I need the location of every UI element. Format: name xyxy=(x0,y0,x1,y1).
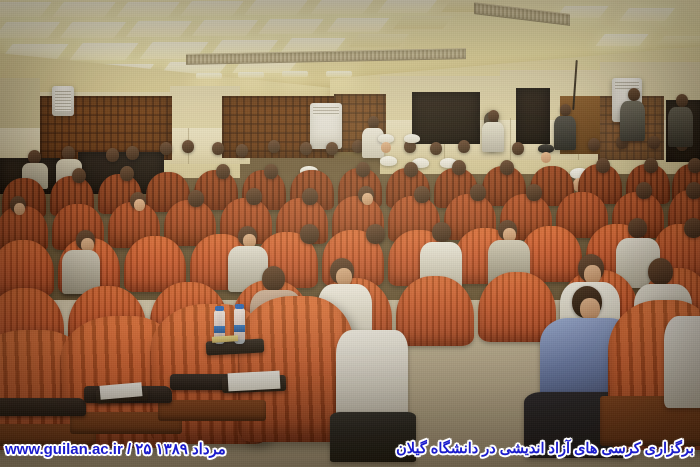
audience-head xyxy=(644,158,658,173)
ceiling-downlight xyxy=(326,71,352,77)
doorway-dark xyxy=(516,88,550,144)
screenshot-photo: www.guilan.ac.ir / ۲۵ مرداد ۱۳۸۹ برگزاری… xyxy=(0,0,700,467)
audience-head xyxy=(366,224,385,244)
seat-armrest xyxy=(0,398,86,416)
audience-head xyxy=(628,218,647,238)
audience-head xyxy=(458,140,470,153)
paper-sheet xyxy=(228,371,281,392)
ceiling-light-panel xyxy=(327,18,390,32)
audience-head xyxy=(512,142,524,155)
audience-head xyxy=(264,164,278,179)
audience-head xyxy=(648,258,673,285)
audience-head xyxy=(430,142,442,155)
cleric-turban-white xyxy=(380,156,397,166)
foreground-person-white-shirt xyxy=(664,316,700,408)
audience-head xyxy=(120,166,134,181)
audience-face xyxy=(362,193,373,205)
audience-head xyxy=(500,160,514,175)
caption-website-and-date: www.guilan.ac.ir / ۲۵ مرداد ۱۳۸۹ xyxy=(5,441,226,458)
standing-person-body xyxy=(482,122,504,152)
audience-head xyxy=(636,182,652,199)
audience-head xyxy=(300,142,312,155)
audience-head xyxy=(452,160,466,175)
standing-person-head xyxy=(560,104,571,116)
audience-head xyxy=(470,184,486,201)
ceiling-downlight xyxy=(196,73,222,79)
audience-head xyxy=(182,140,194,153)
seat-armrest-wood xyxy=(158,400,266,421)
auditorium-seat xyxy=(396,276,474,346)
audience-head xyxy=(432,222,451,242)
audience-head xyxy=(688,158,700,173)
audience-head xyxy=(300,224,319,244)
audience-head xyxy=(268,140,280,153)
standing-person-body xyxy=(668,107,693,147)
air-conditioner-grill xyxy=(313,107,339,116)
audience-head xyxy=(414,186,430,203)
ceiling-downlight xyxy=(282,71,308,77)
audience-head xyxy=(216,164,230,179)
ceiling-light-panel xyxy=(311,0,374,14)
standing-person-body xyxy=(620,101,645,141)
foreground-person-face xyxy=(580,298,600,320)
audience-head xyxy=(326,142,338,155)
audience-head xyxy=(106,148,119,162)
audience-face xyxy=(134,199,145,211)
water-bottle-cap xyxy=(215,306,224,311)
ceiling-downlight xyxy=(238,72,264,78)
audience-head xyxy=(28,150,41,164)
ceiling-light-panel xyxy=(349,34,409,47)
ceiling-light-panel xyxy=(393,16,453,29)
audience-head xyxy=(648,136,660,149)
window-dark xyxy=(412,92,480,144)
audience-head xyxy=(588,138,600,151)
audience-head xyxy=(596,158,610,173)
audience-head xyxy=(212,142,224,155)
ceiling-light-panel xyxy=(377,0,437,13)
standing-person-head xyxy=(628,88,640,101)
standing-person-head xyxy=(676,94,688,107)
cleric-face xyxy=(381,142,391,153)
cleric-face xyxy=(541,152,551,163)
audience-head xyxy=(404,162,418,177)
audience-head xyxy=(126,146,139,160)
audience-head xyxy=(526,184,542,201)
audience-head xyxy=(302,188,318,205)
audience-head xyxy=(686,182,700,199)
standing-person-head xyxy=(488,110,499,122)
water-bottle-cap xyxy=(235,304,244,309)
caption-event-title: برگزاری کرسی های آزاد اندیشی در دانشگاه … xyxy=(396,441,694,458)
audience-head xyxy=(262,266,285,291)
cleric-turban-white xyxy=(404,134,420,143)
water-bottle-label xyxy=(234,325,245,332)
audience-head xyxy=(684,218,700,238)
audience-head xyxy=(72,168,86,183)
ceiling-light-panel xyxy=(595,34,648,46)
standing-person-head xyxy=(368,116,379,128)
audience-head xyxy=(188,190,204,207)
audience-head xyxy=(246,188,262,205)
standing-person-body xyxy=(554,116,576,150)
audience-face xyxy=(14,203,25,215)
audience-head xyxy=(236,144,248,157)
marble-seam xyxy=(510,118,511,160)
standing-person-body xyxy=(362,128,384,158)
wall-speaker-grill xyxy=(55,91,71,111)
audience-head xyxy=(356,162,370,177)
water-bottle-label xyxy=(214,326,225,333)
audience-head xyxy=(160,142,172,155)
audience-head xyxy=(62,146,75,160)
